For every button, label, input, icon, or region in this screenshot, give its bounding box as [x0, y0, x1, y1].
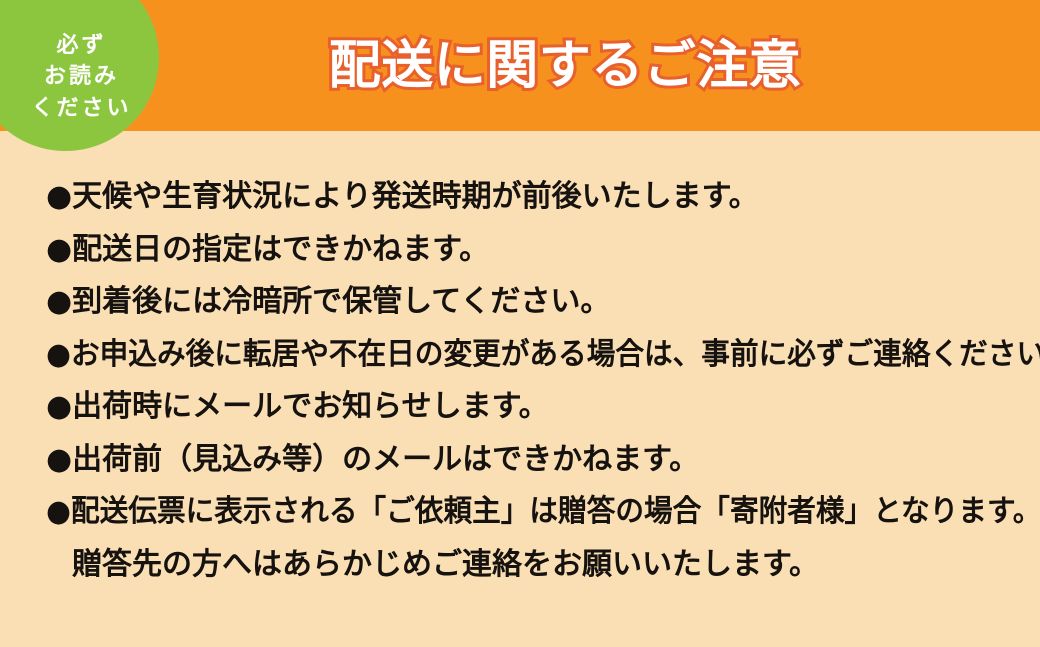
notice-item: ●出荷時にメールでお知らせします。 — [46, 381, 1014, 434]
page-title: 配送に関するご注意 — [160, 0, 970, 131]
badge-line-1: 必ず — [53, 34, 106, 57]
badge-line-3: ください — [28, 97, 131, 120]
shipping-notice-card: 必ず お読み ください 配送に関するご注意 ●天候や生育状況により発送時期が前後… — [0, 0, 1040, 647]
notice-item-continuation: 贈答先の方へはあらかじめご連絡をお願いいたします。 — [46, 539, 1014, 592]
must-read-badge-text: 必ず お読み ください — [0, 2, 160, 152]
notice-item: ●到着後には冷暗所で保管してください。 — [46, 276, 1014, 329]
notice-item: ●お申込み後に転居や不在日の変更がある場合は、事前に必ずご連絡ください。 — [46, 329, 970, 382]
notice-item: ●配送日の指定はできかねます。 — [46, 224, 1014, 277]
notice-item: ●配送伝票に表示される「ご依頼主」は贈答の場合「寄附者様」となります。 — [46, 486, 970, 539]
badge-line-2: お読み — [41, 65, 119, 88]
notice-item: ●天候や生育状況により発送時期が前後いたします。 — [46, 171, 1014, 224]
notice-item: ●出荷前（見込み等）のメールはできかねます。 — [46, 434, 1014, 487]
notice-list: ●天候や生育状況により発送時期が前後いたします。 ●配送日の指定はできかねます。… — [46, 171, 1014, 591]
